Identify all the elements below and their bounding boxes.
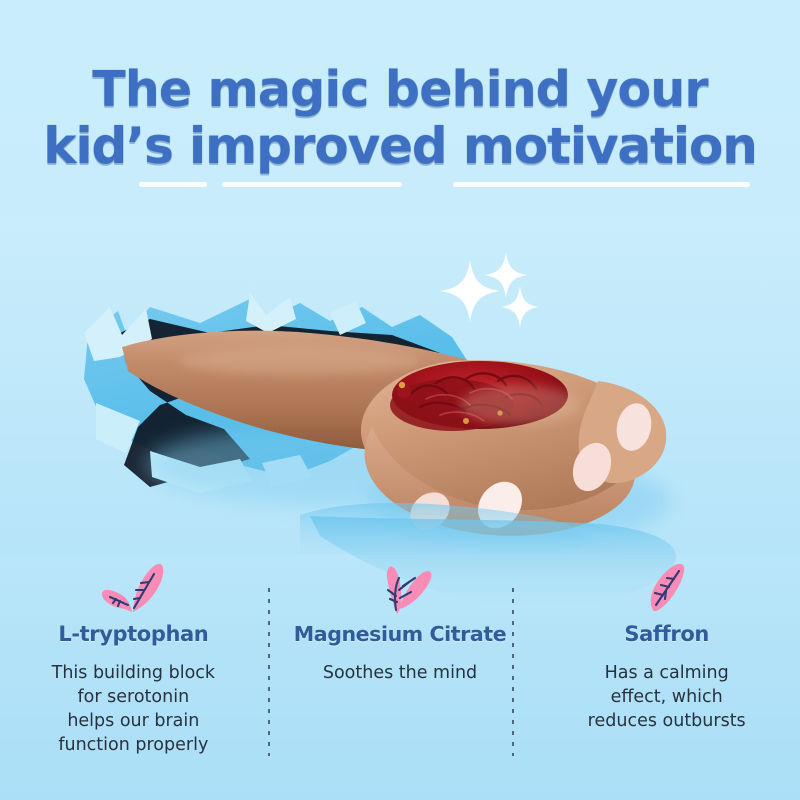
sparkle-group <box>430 250 590 360</box>
ingredient-title: L-tryptophan <box>58 622 208 647</box>
ingredient-description: Has a calming effect, which reduces outb… <box>588 661 746 733</box>
desc-line: This building block <box>52 661 215 685</box>
ingredient-description: This building block for serotonin helps … <box>52 661 215 757</box>
two-leaf-sprout-icon <box>94 556 172 616</box>
desc-line: reduces outbursts <box>588 709 746 733</box>
ingredient-infographic-poster: The magic behind your kid’s improved mot… <box>0 0 800 800</box>
desc-line: function properly <box>52 733 215 757</box>
ingredient-card-magnesium-citrate: Magnesium Citrate Soothes the mind <box>267 548 534 800</box>
page-title: The magic behind your kid’s improved mot… <box>0 62 800 174</box>
desc-line: helps our brain <box>52 709 215 733</box>
column-divider-2 <box>512 588 514 756</box>
ingredient-card-l-tryptophan: L-tryptophan This building block for ser… <box>0 548 267 800</box>
ingredient-cards: L-tryptophan This building block for ser… <box>0 548 800 800</box>
headline-line-2: kid’s improved motivation <box>0 118 800 174</box>
desc-line: for serotonin <box>52 685 215 709</box>
headline-line-1: The magic behind your <box>0 62 800 118</box>
hero-hand-through-paper-image <box>0 215 800 555</box>
sparkle-large-icon <box>440 260 500 322</box>
desc-line: effect, which <box>588 685 746 709</box>
ingredient-title: Saffron <box>624 622 709 647</box>
headline-underline-segment-3 <box>453 182 750 187</box>
headline-underline-group <box>0 182 800 192</box>
two-leaf-sprout-icon <box>361 556 439 616</box>
column-divider-1 <box>268 588 270 756</box>
ingredient-title: Magnesium Citrate <box>294 622 506 647</box>
desc-line: Soothes the mind <box>323 661 477 685</box>
desc-line: Has a calming <box>588 661 746 685</box>
title-line: Magnesium <box>294 622 423 646</box>
title-line: Citrate <box>430 622 507 646</box>
headline-underline-segment-1 <box>139 182 207 187</box>
ingredient-description: Soothes the mind <box>323 661 477 685</box>
single-leaf-icon <box>628 556 706 616</box>
ingredient-card-saffron: Saffron Has a calming effect, which redu… <box>533 548 800 800</box>
headline-underline-segment-2 <box>222 182 402 187</box>
